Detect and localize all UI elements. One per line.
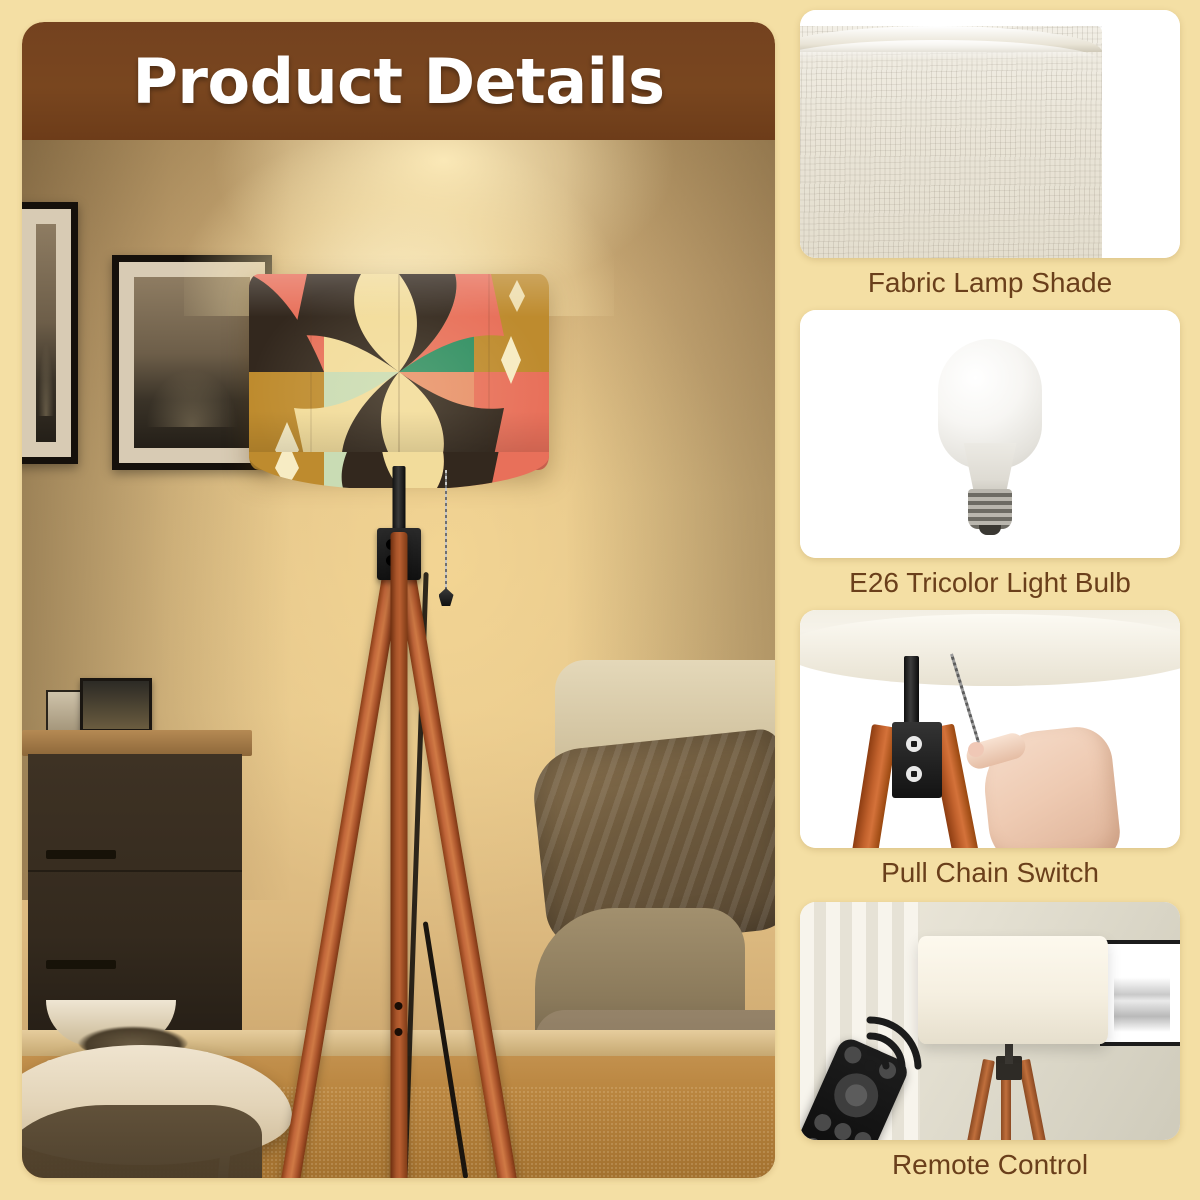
- lamp-leg-left: [280, 530, 408, 1178]
- hand-pulling-chain-icon: [800, 610, 1180, 848]
- tripod-floor-lamp: [184, 140, 614, 1178]
- shade-highlight: [249, 274, 549, 470]
- patterned-lamp-shade: [249, 274, 549, 470]
- mini-lamp-bracket: [892, 722, 942, 798]
- product-details-page: Product Details: [0, 0, 1200, 1200]
- feature-e26-tricolor-bulb[interactable]: E26 Tricolor Light Bulb: [800, 310, 1180, 599]
- feature-label: E26 Tricolor Light Bulb: [800, 558, 1180, 599]
- bulb-neck: [960, 443, 1020, 495]
- signal-waves-icon: [856, 1002, 934, 1080]
- linen-shade-closeup-icon: [800, 10, 1180, 258]
- bulb-screw-base: [968, 489, 1012, 529]
- mini-lamp-leg-left: [850, 724, 898, 848]
- remote-button: [801, 1135, 823, 1140]
- remote-and-lamp-icon: [800, 902, 1180, 1140]
- lamp-leg-center: [390, 532, 407, 1178]
- wall-art: [1100, 940, 1180, 1046]
- remote-button: [832, 1120, 854, 1140]
- dresser-drawer-pull: [46, 850, 116, 859]
- led-bulb-icon: [800, 310, 1180, 558]
- feature-label: Pull Chain Switch: [800, 848, 1180, 889]
- wall-art-frame-left: [22, 202, 78, 464]
- feature-remote-control[interactable]: Remote Control: [800, 902, 1180, 1181]
- feature-rail: Fabric Lamp Shade E26 Tricolor Light Bul…: [800, 0, 1200, 1200]
- shade-edge-inner: [800, 614, 1180, 686]
- feature-image-card: [800, 902, 1180, 1140]
- remote-button: [852, 1129, 874, 1140]
- pull-chain[interactable]: [445, 470, 447, 590]
- feature-pull-chain-switch[interactable]: Pull Chain Switch: [800, 610, 1180, 889]
- feature-image-card: [800, 10, 1180, 258]
- pull-chain-pendant[interactable]: [439, 588, 454, 606]
- mini-lamp-shade: [918, 936, 1108, 1044]
- mini-lamp-leg-a: [967, 1059, 995, 1140]
- feature-label: Remote Control: [800, 1140, 1180, 1181]
- bulb-graphic: [932, 339, 1048, 529]
- room-scene-image: [22, 140, 775, 1178]
- remote-button: [812, 1111, 834, 1133]
- mini-lamp-leg-b: [1018, 1059, 1046, 1140]
- feature-image-card: [800, 310, 1180, 558]
- feature-image-card: [800, 610, 1180, 848]
- hero-banner: Product Details: [22, 22, 775, 140]
- hero-panel: Product Details: [22, 22, 775, 1178]
- feature-fabric-lamp-shade[interactable]: Fabric Lamp Shade: [800, 10, 1180, 299]
- dresser-drawer-pull: [46, 960, 116, 969]
- bulb-contact-tip: [979, 525, 1001, 535]
- dresser-photo-frame: [80, 678, 152, 732]
- feature-label: Fabric Lamp Shade: [800, 258, 1180, 299]
- frame-photo: [36, 224, 56, 442]
- page-title: Product Details: [132, 45, 664, 118]
